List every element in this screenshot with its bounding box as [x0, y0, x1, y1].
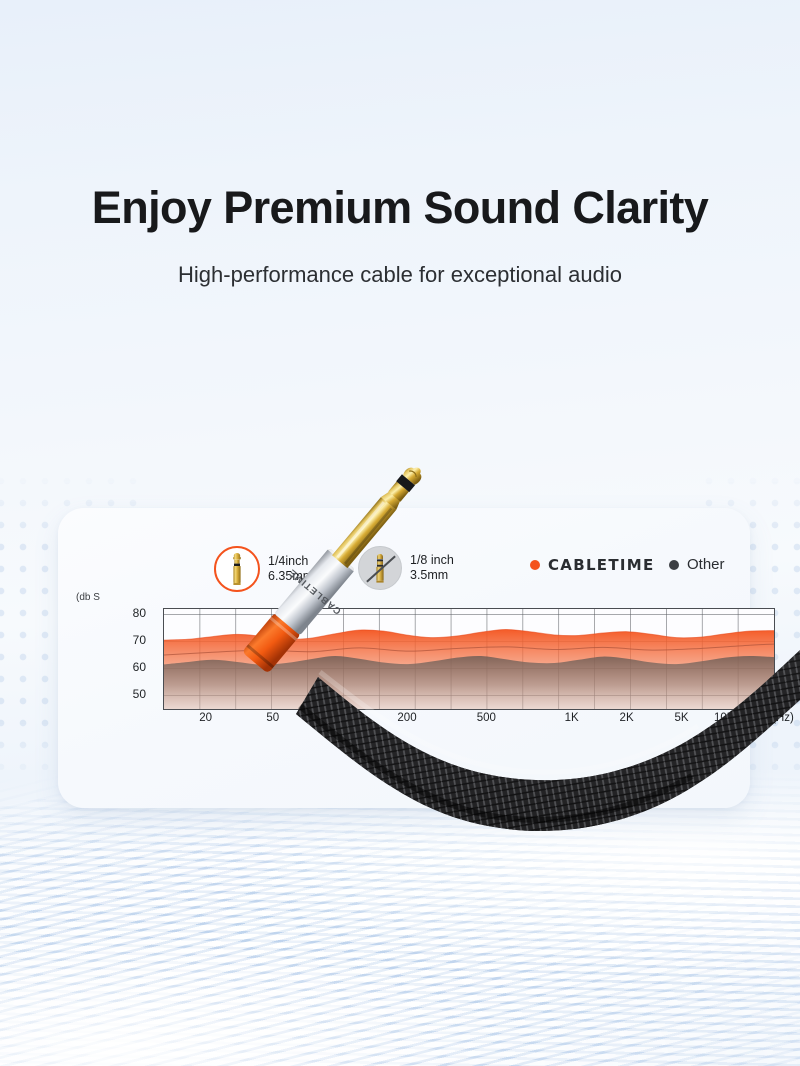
legend-series-cabletime: CABLETIME	[530, 556, 655, 574]
y-axis-tick: 50	[120, 687, 146, 701]
x-axis: 20501002005001K2K5K10K(Hz)	[163, 712, 773, 732]
x-axis-tick: 50	[266, 712, 279, 724]
legend-label-other: Other	[687, 556, 725, 573]
x-axis-tick: 1K	[565, 712, 579, 724]
x-axis-tick: 20	[199, 712, 212, 724]
connector-label-line2: 6.35mm	[268, 569, 313, 584]
x-axis-tick: 5K	[674, 712, 688, 724]
y-axis-tick: 70	[120, 633, 146, 647]
y-axis-tick: 80	[120, 606, 146, 620]
connector-label-line1: 1/8 inch	[410, 553, 454, 568]
frequency-response-chart: (db S 80 70 60 50	[76, 594, 740, 754]
promo-page: Enjoy Premium Sound Clarity High-perform…	[0, 0, 800, 1066]
legend-row: 1/4inch 6.35mm	[214, 544, 734, 594]
page-title: Enjoy Premium Sound Clarity	[0, 182, 800, 234]
spec-card: 1/4inch 6.35mm	[58, 508, 750, 808]
x-axis-unit-label: (Hz)	[772, 712, 794, 724]
legend-connector-eighth-inch: 1/8 inch 3.5mm	[358, 546, 454, 590]
chart-plot-area	[163, 608, 775, 710]
legend-label-cabletime: CABLETIME	[548, 556, 655, 574]
x-axis-tick: 500	[477, 712, 496, 724]
connector-label-line2: 3.5mm	[410, 568, 454, 583]
x-axis-tick: 10K	[714, 712, 734, 724]
page-subtitle: High-performance cable for exceptional a…	[0, 262, 800, 288]
x-axis-tick: 2K	[620, 712, 634, 724]
legend-connector-quarter-inch: 1/4inch 6.35mm	[214, 546, 313, 592]
y-axis-unit-label: (db S	[76, 592, 100, 603]
legend-series-other: Other	[669, 556, 725, 573]
x-axis-tick: 100	[330, 712, 349, 724]
quarter-inch-jack-icon	[214, 546, 260, 592]
x-axis-tick: 200	[397, 712, 416, 724]
wave-texture-background	[0, 770, 800, 1066]
eighth-inch-jack-icon	[358, 546, 402, 590]
legend-dot-other	[669, 560, 679, 570]
y-axis: (db S 80 70 60 50	[76, 594, 146, 754]
connector-label: 1/4inch 6.35mm	[268, 554, 313, 584]
y-axis-tick: 60	[120, 660, 146, 674]
connector-label: 1/8 inch 3.5mm	[410, 553, 454, 583]
connector-label-line1: 1/4inch	[268, 554, 313, 569]
legend-dot-cabletime	[530, 560, 540, 570]
